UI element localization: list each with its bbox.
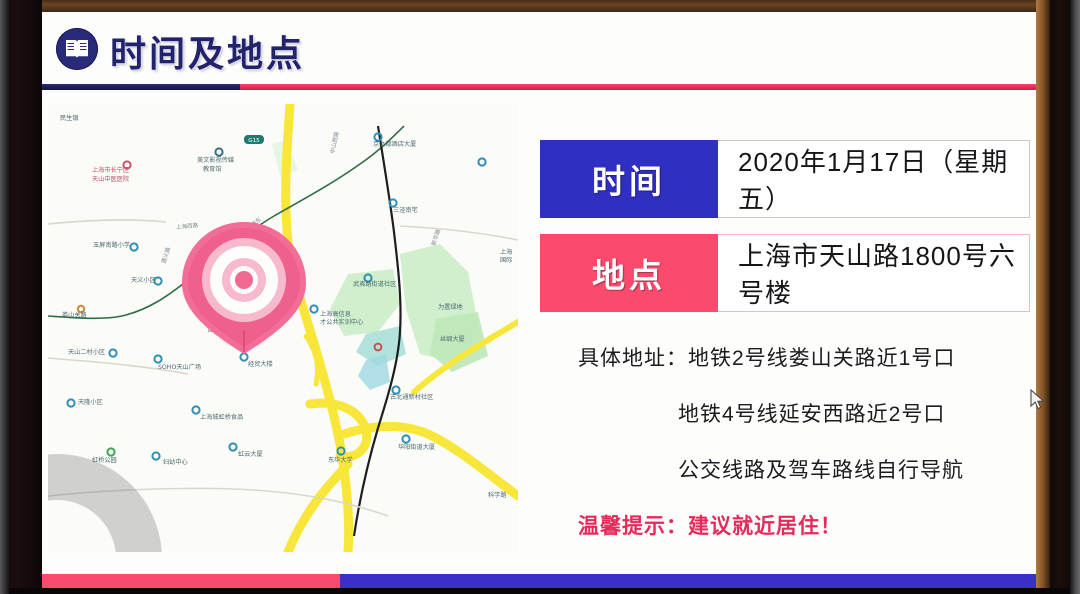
- detail-list: 具体地址：地铁2号线娄山关路近1号口 地铁4号线延安西路近2号口 公交线路及驾车…: [540, 342, 1030, 540]
- map-poi-label: 妇幼中心: [163, 458, 188, 466]
- slide-header: 时间及地点: [40, 12, 1045, 82]
- info-value-time: 2020年1月17日（星期五）: [718, 140, 1030, 218]
- warm-tip: 温馨提示：建议就近居住！: [578, 510, 1030, 540]
- highway-shield-icon: G15: [244, 135, 264, 144]
- monitor-bezel-bottom: [0, 588, 1080, 594]
- divider-segment-blue: [40, 84, 240, 90]
- map-poi-label: 京之都酒店大厦: [373, 140, 416, 148]
- map-poi-label: 华阳街道大厦: [398, 443, 435, 451]
- monitor-edge-left: [0, 0, 9, 594]
- map-poi-label: 国际: [500, 256, 512, 264]
- location-map[interactable]: G15: [48, 104, 518, 552]
- screen-photo-stage: 时间及地点: [0, 0, 1080, 594]
- map-poi-label: 科学路: [488, 491, 507, 499]
- info-key-place: 地点: [540, 234, 718, 312]
- map-poi-label: 上海市长宁区: [92, 166, 129, 174]
- map-poi-label: 三泾南宅: [393, 206, 418, 214]
- map-poi-label: 丝绸大厦: [440, 335, 465, 343]
- map-poi-label: 武夷路街道社区: [353, 280, 396, 288]
- map-poi-label: 经贸大楼: [248, 360, 273, 368]
- slide-footer: [40, 574, 1045, 588]
- map-poi-label: 虹云大厦: [238, 450, 263, 458]
- svg-text:G15: G15: [248, 138, 260, 144]
- map-poi-label: 上海: [500, 248, 512, 256]
- open-book-icon: [56, 28, 98, 70]
- map-poi-label: 娄山关路: [62, 311, 88, 319]
- presentation-slide: 时间及地点: [40, 12, 1045, 588]
- detail-line-metro4: 地铁4号线延安西路近2号口: [578, 398, 1030, 428]
- map-poi-label: 才公共实训中心: [320, 318, 363, 326]
- info-panel: 时间 2020年1月17日（星期五） 地点 上海市天山路1800号六号楼 具体地…: [540, 140, 1030, 540]
- map-poi-label: 玉屏南路小学: [93, 241, 130, 249]
- map-poi-label: 上海高信息: [320, 310, 351, 318]
- map-poi-label: 为置绿地: [438, 303, 463, 311]
- monitor-bezel-right-inner: [1036, 0, 1050, 594]
- monitor-edge-right: [1070, 0, 1080, 594]
- footer-segment-pink: [40, 574, 340, 588]
- map-poi-label: 天山中医医院: [92, 175, 129, 183]
- info-row-time: 时间 2020年1月17日（星期五）: [540, 140, 1030, 218]
- map-poi-label: 虹桥公园: [92, 456, 117, 464]
- detail-line-address: 具体地址：地铁2号线娄山关路近1号口: [578, 342, 1030, 372]
- map-poi-label: 美文影视传媒: [197, 156, 235, 164]
- map-poi-label: 教育馆: [203, 165, 222, 173]
- map-canvas: G15: [48, 104, 518, 552]
- divider-segment-pink: [240, 84, 1045, 90]
- info-key-time: 时间: [540, 140, 718, 218]
- map-poi-label: 民生银: [60, 114, 79, 122]
- map-poi-label: 天隆小区: [78, 398, 103, 406]
- page-title: 时间及地点: [110, 25, 305, 77]
- info-row-place: 地点 上海市天山路1800号六号楼: [540, 234, 1030, 312]
- mouse-pointer: [1030, 389, 1046, 416]
- info-value-place: 上海市天山路1800号六号楼: [718, 234, 1030, 312]
- map-poi-label: SOHO天山广场: [158, 363, 201, 371]
- map-poi-label: 上海城虹桥食品: [200, 413, 243, 421]
- map-poi-label: 天义小区: [131, 276, 156, 284]
- header-divider: [40, 84, 1045, 90]
- footer-segment-blue: [340, 574, 1045, 588]
- map-poi-label: 东华大学: [328, 456, 353, 464]
- detail-line-bus: 公交线路及驾车路线自行导航: [578, 454, 1030, 484]
- map-poi-label: 古北通新村社区: [390, 393, 433, 401]
- map-poi-label: 天山二村小区: [68, 348, 105, 356]
